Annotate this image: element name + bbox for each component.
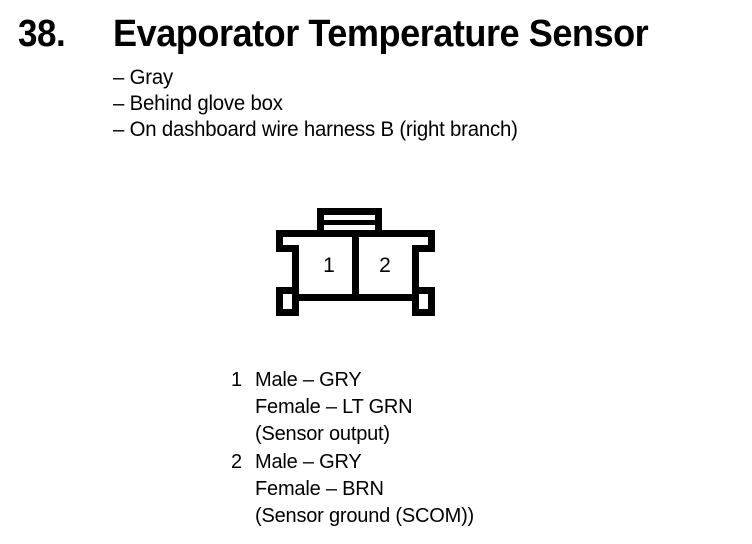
- legend-pin-number: 2: [231, 449, 255, 476]
- diagram-page: 38. Evaporator Temperature Sensor – Gray…: [0, 0, 752, 544]
- list-item: – Gray: [113, 65, 695, 91]
- legend-line: (Sensor ground (SCOM)): [255, 503, 651, 530]
- connector-drawing: 1 2: [268, 200, 443, 320]
- legend-line: (Sensor output): [255, 421, 651, 448]
- legend-row: Female – LT GRN: [231, 394, 651, 421]
- legend-line: Male – GRY: [255, 367, 651, 394]
- legend-row: 2 Male – GRY: [231, 449, 651, 476]
- legend-line: Female – LT GRN: [255, 394, 651, 421]
- pin-legend: 1 Male – GRY Female – LT GRN (Sensor out…: [231, 367, 651, 531]
- legend-entry-pin-2: 2 Male – GRY Female – BRN (Sensor ground…: [231, 449, 651, 530]
- detail-list: – Gray – Behind glove box – On dashboard…: [113, 65, 713, 143]
- latch-tab-bar: [324, 220, 375, 225]
- connector-diagram: 1 2: [268, 200, 443, 320]
- cavity-label-2: 2: [379, 254, 391, 277]
- list-item: – On dashboard wire harness B (right bra…: [113, 117, 695, 143]
- legend-row: (Sensor ground (SCOM)): [231, 503, 651, 530]
- legend-line: Male – GRY: [255, 449, 651, 476]
- legend-row: 1 Male – GRY: [231, 367, 651, 394]
- legend-line: Female – BRN: [255, 476, 651, 503]
- page-title: 38. Evaporator Temperature Sensor: [18, 12, 738, 60]
- legend-entry-pin-1: 1 Male – GRY Female – LT GRN (Sensor out…: [231, 367, 651, 448]
- legend-row: (Sensor output): [231, 421, 651, 448]
- cavity-label-1: 1: [323, 254, 335, 277]
- list-item: – Behind glove box: [113, 91, 695, 117]
- item-number: 38.: [18, 12, 65, 56]
- legend-pin-number: 1: [231, 367, 255, 394]
- title-text: Evaporator Temperature Sensor: [113, 12, 648, 56]
- legend-row: Female – BRN: [231, 476, 651, 503]
